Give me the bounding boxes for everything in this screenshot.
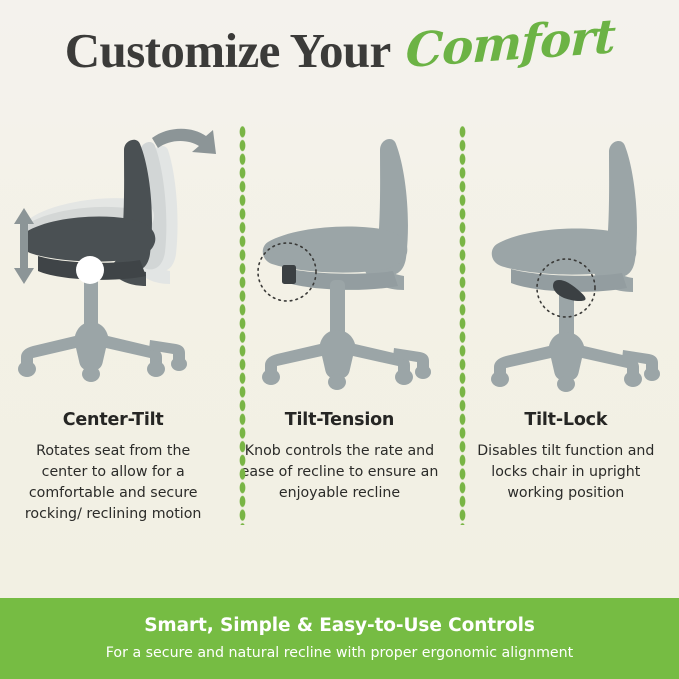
feature-column-tilt-lock: Tilt-Lock Disables tilt function and loc… bbox=[453, 108, 679, 563]
chair-illustration-center-tilt bbox=[0, 108, 226, 398]
page-title: Customize Your Comfort bbox=[65, 26, 614, 75]
divider-dotted-right bbox=[459, 125, 466, 525]
chair-body bbox=[262, 139, 431, 390]
header: Customize Your Comfort bbox=[0, 0, 679, 100]
footer-title: Smart, Simple & Easy-to-Use Controls bbox=[144, 617, 535, 636]
pivot-point-indicator bbox=[76, 256, 104, 284]
feature-body-center-tilt: Rotates seat from the center to allow fo… bbox=[13, 441, 213, 525]
chair-illustration-tilt-lock bbox=[453, 108, 679, 398]
feature-heading-tilt-tension: Tilt-Tension bbox=[285, 410, 394, 430]
divider-dotted-left bbox=[239, 125, 246, 525]
title-main-text: Customize Your bbox=[65, 26, 391, 75]
footer-banner: Smart, Simple & Easy-to-Use Controls For… bbox=[0, 598, 679, 679]
feature-body-tilt-lock: Disables tilt function and locks chair i… bbox=[466, 441, 666, 504]
feature-columns: Center-Tilt Rotates seat from the center… bbox=[0, 108, 679, 563]
feature-body-tilt-tension: Knob controls the rate and ease of recli… bbox=[239, 441, 439, 504]
footer-subtitle: For a secure and natural recline with pr… bbox=[106, 646, 573, 660]
chair-illustration-tilt-tension bbox=[226, 108, 452, 398]
infographic-root: Customize Your Comfort bbox=[0, 0, 679, 679]
feature-heading-tilt-lock: Tilt-Lock bbox=[524, 410, 607, 430]
title-script-text: Comfort bbox=[405, 13, 616, 75]
feature-column-center-tilt: Center-Tilt Rotates seat from the center… bbox=[0, 108, 226, 563]
feature-heading-center-tilt: Center-Tilt bbox=[63, 410, 164, 430]
chair-body bbox=[491, 141, 660, 392]
feature-column-tilt-tension: Tilt-Tension Knob controls the rate and … bbox=[226, 108, 452, 563]
